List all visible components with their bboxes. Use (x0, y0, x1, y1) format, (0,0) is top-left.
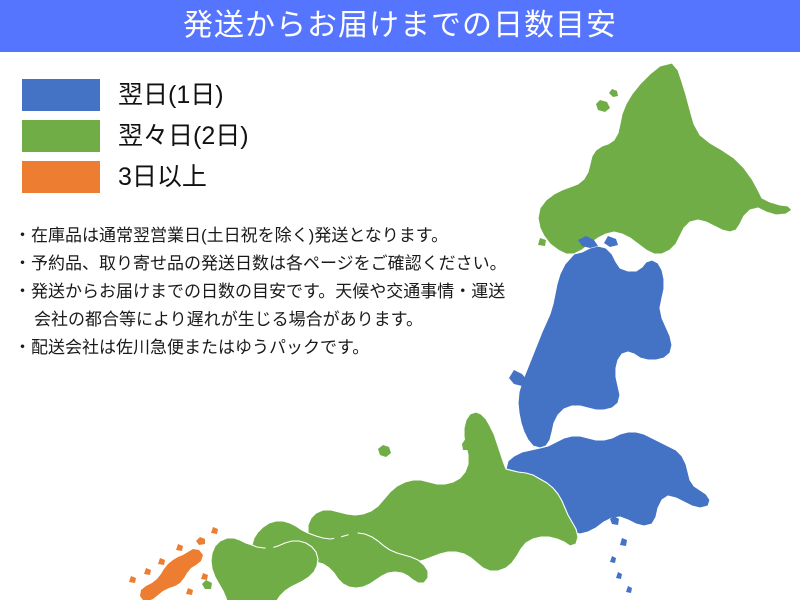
legend-label-three-or-more: 3日以上 (118, 165, 207, 190)
map-region-chugoku-shikoku (252, 445, 428, 588)
legend: 翌日(1日) 翌々日(2日) 3日以上 (22, 76, 322, 199)
map-region-okinawa (129, 527, 218, 600)
map-region-chubu-kansai (308, 412, 578, 571)
map-region-izu-islands (610, 516, 640, 600)
legend-label-next-day: 翌日(1日) (118, 83, 224, 108)
map-region-hokkaido (538, 63, 792, 254)
header-banner: 発送からお届けまでの日数目安 (0, 0, 800, 52)
legend-swatch-two-days (22, 120, 100, 152)
legend-label-two-days: 翌々日(2日) (118, 124, 249, 149)
legend-swatch-next-day (22, 79, 100, 111)
map-region-kanto-koshinetsu (506, 370, 710, 534)
legend-item-next-day: 翌日(1日) (22, 76, 322, 114)
note-line: ・在庫品は通常翌営業日(土日祝を除く)発送となります。 (14, 222, 574, 250)
legend-item-three-or-more: 3日以上 (22, 158, 322, 196)
legend-item-two-days: 翌々日(2日) (22, 117, 322, 155)
shipping-days-infographic: 発送からお届けまでの日数目安 (0, 0, 800, 600)
notes-list: ・在庫品は通常翌営業日(土日祝を除く)発送となります。 ・予約品、取り寄せ品の発… (14, 222, 574, 362)
legend-swatch-three-or-more (22, 161, 100, 193)
note-line: ・発送からお届けまでの日数の目安です。天候や交通事情・運送 (14, 278, 574, 306)
note-line: 会社の都合等により遅れが生じる場合があります。 (14, 306, 574, 334)
map-region-kyushu (202, 538, 318, 600)
note-line: ・配送会社は佐川急便またはゆうパックです。 (14, 334, 574, 362)
note-line: ・予約品、取り寄せ品の発送日数は各ページをご確認ください。 (14, 250, 574, 278)
page-title: 発送からお届けまでの日数目安 (183, 11, 617, 41)
